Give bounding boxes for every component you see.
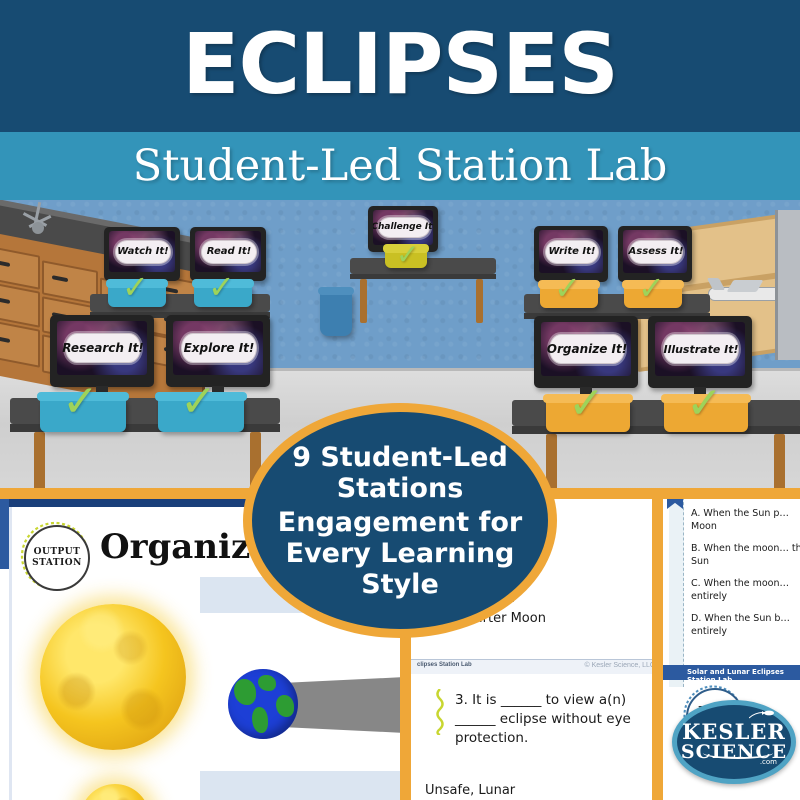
blue-footer-text: Solar and Lunar Eclipses Station Lab xyxy=(687,668,800,684)
station-label: Explore It! xyxy=(184,341,255,355)
sun-graphic-secondary xyxy=(80,784,150,800)
earth-graphic xyxy=(228,669,298,739)
station-label: Organize It! xyxy=(547,342,627,356)
checkmark-icon: ✓ xyxy=(208,268,235,306)
orange-divider-vertical-2 xyxy=(652,499,663,800)
station-label: Watch It! xyxy=(117,246,168,257)
choice-b-text: When the moon… the Sun xyxy=(691,543,800,567)
table-leg xyxy=(360,279,367,323)
station-label: Read It! xyxy=(207,246,251,257)
monitor-screen: Watch It! xyxy=(109,231,174,272)
worksheet-blue-footer: Solar and Lunar Eclipses Station Lab xyxy=(663,665,800,680)
worksheet-footer: clipses Station Lab © Kesler Science, LL… xyxy=(411,659,663,674)
monitor-screen: Illustrate It! xyxy=(655,322,744,377)
choice-d: D. When the Sun b… entirely xyxy=(691,612,800,638)
page-subtitle: Student-Led Station Lab xyxy=(0,136,800,196)
earth-landmass xyxy=(234,679,256,705)
station-plaque: Research It! xyxy=(65,333,140,363)
checkmark-icon: ✓ xyxy=(62,376,99,427)
checkmark-icon: ✓ xyxy=(686,378,723,429)
station-plaque: Write It! xyxy=(545,240,599,264)
monitor-screen: Write It! xyxy=(539,230,603,273)
cabinet-drawer xyxy=(0,245,40,290)
worksheet-answer: Unsafe, Lunar xyxy=(425,783,515,798)
station-plaque: Organize It! xyxy=(549,334,624,364)
choice-d-text: When the Sun b… entirely xyxy=(691,613,790,637)
worksheet-question: 3. It is ______ to view a(n) ______ ecli… xyxy=(455,691,655,748)
station-label: Assess It! xyxy=(629,246,684,257)
answer-box xyxy=(200,771,400,800)
space-shuttle-model xyxy=(708,278,782,304)
stamp-line-2: STATION xyxy=(32,558,82,569)
station-plaque: Watch It! xyxy=(115,240,171,263)
station-plaque: Assess It! xyxy=(629,240,683,264)
monitor-screen: Read It! xyxy=(195,231,260,272)
checkmark-icon: ✓ xyxy=(396,238,419,271)
output-station-stamp: OUTPUT STATION xyxy=(18,519,92,593)
station-plaque: Read It! xyxy=(201,240,257,263)
worksheet-side-tab xyxy=(0,499,9,569)
checkmark-icon: ✓ xyxy=(568,378,605,429)
sun-texture xyxy=(40,604,186,750)
checkmark-icon: ✓ xyxy=(554,269,581,307)
sun-graphic xyxy=(40,604,186,750)
checkmark-icon: ✓ xyxy=(180,376,217,427)
earth-landmass xyxy=(258,675,276,691)
choice-a: A. When the Sun p… Moon xyxy=(691,507,800,533)
badge-line-2: Engagement for Every Learning Style xyxy=(268,507,533,600)
station-label: Illustrate It! xyxy=(663,343,738,356)
rocket-icon xyxy=(749,709,775,721)
trash-can xyxy=(320,292,352,336)
choice-b: B. When the moon… the Sun xyxy=(691,542,800,568)
choice-b-letter: B. xyxy=(691,543,701,554)
footer-left-text: clipses Station Lab xyxy=(417,662,472,668)
choice-c-letter: C. xyxy=(691,578,701,589)
logo-line-1: KESLER xyxy=(682,721,786,742)
product-cover: ECLIPSES Student-Led Station Lab xyxy=(0,0,800,800)
station-label: Challenge It! xyxy=(373,222,433,232)
monitor-screen: Explore It! xyxy=(173,321,262,376)
station-label: Write It! xyxy=(549,246,596,257)
monitor-screen: Organize It! xyxy=(541,322,630,377)
worksheet-rail xyxy=(669,499,684,687)
classroom-door xyxy=(775,210,800,360)
sun-texture xyxy=(80,784,150,800)
logo-tld: .com xyxy=(760,758,777,766)
checkmark-icon: ✓ xyxy=(638,269,665,307)
monitor-screen: Assess It! xyxy=(623,230,687,273)
worksheet-rail xyxy=(9,507,12,800)
choice-a-text: When the Sun p… Moon xyxy=(691,508,789,532)
table-leg xyxy=(476,279,483,323)
kesler-science-logo: KESLER SCIENCE .com xyxy=(672,700,796,784)
earth-landmass xyxy=(276,695,294,717)
stamp-line-1: OUTPUT xyxy=(34,547,81,558)
stamp-disc: OUTPUT STATION xyxy=(24,525,90,591)
station-plaque: Explore It! xyxy=(181,333,256,363)
choice-c: C. When the moon… entirely xyxy=(691,577,800,603)
earth-landmass xyxy=(252,707,268,733)
station-label: Research It! xyxy=(62,341,144,355)
checkmark-icon: ✓ xyxy=(122,268,149,306)
feature-badge: 9 Student-Led Stations Engagement for Ev… xyxy=(243,403,557,638)
choice-a-letter: A. xyxy=(691,508,700,519)
badge-line-1: 9 Student-Led Stations xyxy=(275,442,525,504)
footer-right-text: © Kesler Science, LLC xyxy=(584,662,655,669)
station-plaque: Illustrate It! xyxy=(663,334,738,364)
page-title: ECLIPSES xyxy=(0,14,800,114)
table-edge xyxy=(350,274,496,279)
station-plaque: Challenge It! xyxy=(378,217,429,237)
choice-d-letter: D. xyxy=(691,613,701,624)
monitor-screen: Research It! xyxy=(57,321,146,376)
trash-rim xyxy=(318,287,354,295)
choice-c-text: When the moon… entirely xyxy=(691,578,789,602)
microscope-icon xyxy=(12,202,66,236)
squiggle-divider-icon xyxy=(435,689,445,735)
